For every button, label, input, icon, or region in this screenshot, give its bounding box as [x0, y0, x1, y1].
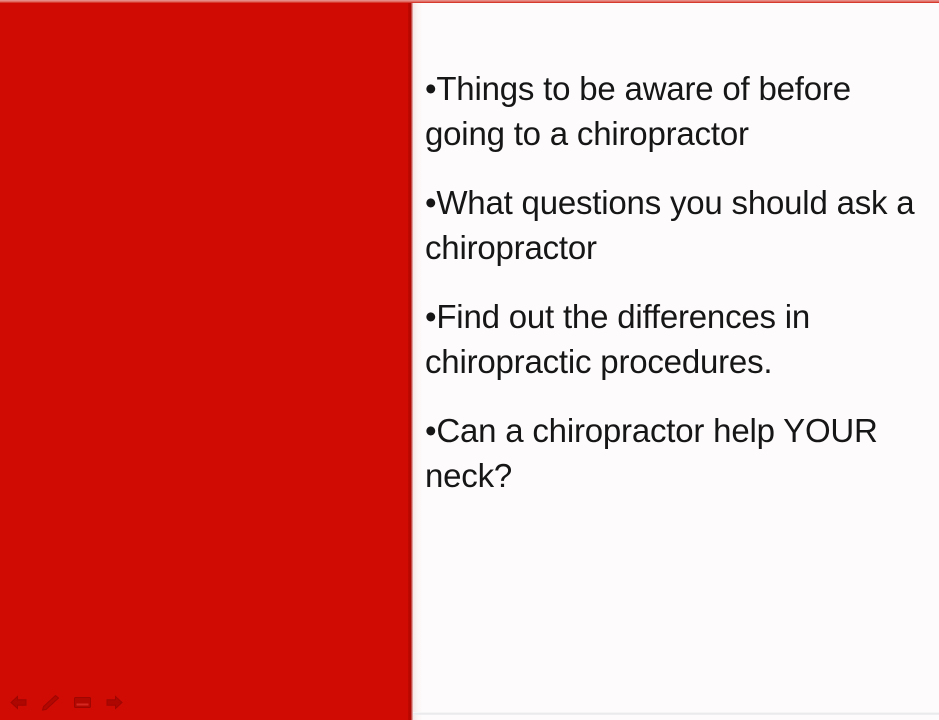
pen-icon[interactable]: [40, 694, 61, 711]
slide-top-border: [0, 0, 939, 3]
previous-arrow-icon[interactable]: [8, 694, 29, 711]
bullet-list: •Things to be aware of before going to a…: [425, 66, 925, 498]
list-item: •Things to be aware of before going to a…: [425, 66, 917, 156]
title-panel: [0, 0, 413, 720]
list-item: •Can a chiropractor help YOUR neck?: [425, 408, 917, 498]
slideshow-toolbar: [8, 692, 138, 712]
presentation-slide: Can a Chiropractor Help Your Neck Pain? …: [0, 0, 939, 720]
next-arrow-icon[interactable]: [104, 694, 125, 711]
content-panel-edge: [413, 0, 423, 720]
slide-screen-icon[interactable]: [72, 694, 93, 711]
slide-bottom-border: [413, 712, 939, 715]
list-item: •Find out the differences in chiropracti…: [425, 294, 917, 384]
list-item: •What questions you should ask a chiropr…: [425, 180, 917, 270]
